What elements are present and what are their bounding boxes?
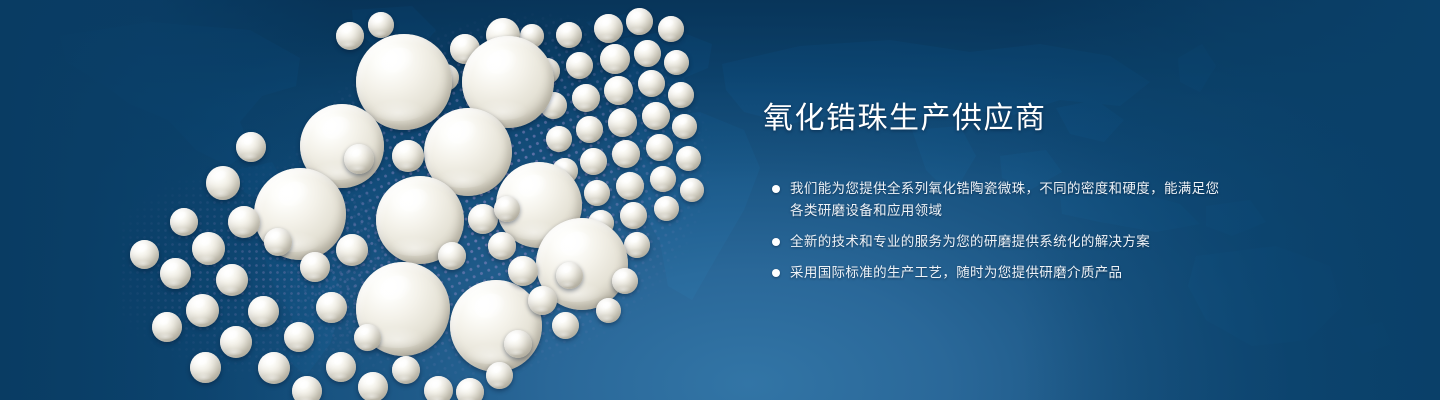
list-item: 我们能为您提供全系列氧化锆陶瓷微珠，不同的密度和硬度，能满足您各类研磨设备和应用… xyxy=(763,178,1233,222)
list-item-label: 全新的技术和专业的服务为您的研磨提供系统化的解决方案 xyxy=(790,231,1233,253)
bullet-dot-icon xyxy=(772,185,780,193)
list-item: 全新的技术和专业的服务为您的研磨提供系统化的解决方案 xyxy=(763,231,1233,253)
bullet-dot-icon xyxy=(772,269,780,277)
banner-content: 氧化锆珠生产供应商 我们能为您提供全系列氧化锆陶瓷微珠，不同的密度和硬度，能满足… xyxy=(763,104,1233,283)
bullet-dot-icon xyxy=(772,238,780,246)
list-item: 采用国际标准的生产工艺，随时为您提供研磨介质产品 xyxy=(763,262,1233,284)
list-item-label: 采用国际标准的生产工艺，随时为您提供研磨介质产品 xyxy=(790,262,1233,284)
list-item-label: 我们能为您提供全系列氧化锆陶瓷微珠，不同的密度和硬度，能满足您各类研磨设备和应用… xyxy=(790,178,1233,222)
hero-banner: 氧化锆珠生产供应商 我们能为您提供全系列氧化锆陶瓷微珠，不同的密度和硬度，能满足… xyxy=(0,0,1440,400)
background-left-vignette xyxy=(0,0,330,400)
banner-title: 氧化锆珠生产供应商 xyxy=(763,104,1233,134)
feature-list: 我们能为您提供全系列氧化锆陶瓷微珠，不同的密度和硬度，能满足您各类研磨设备和应用… xyxy=(763,178,1233,283)
